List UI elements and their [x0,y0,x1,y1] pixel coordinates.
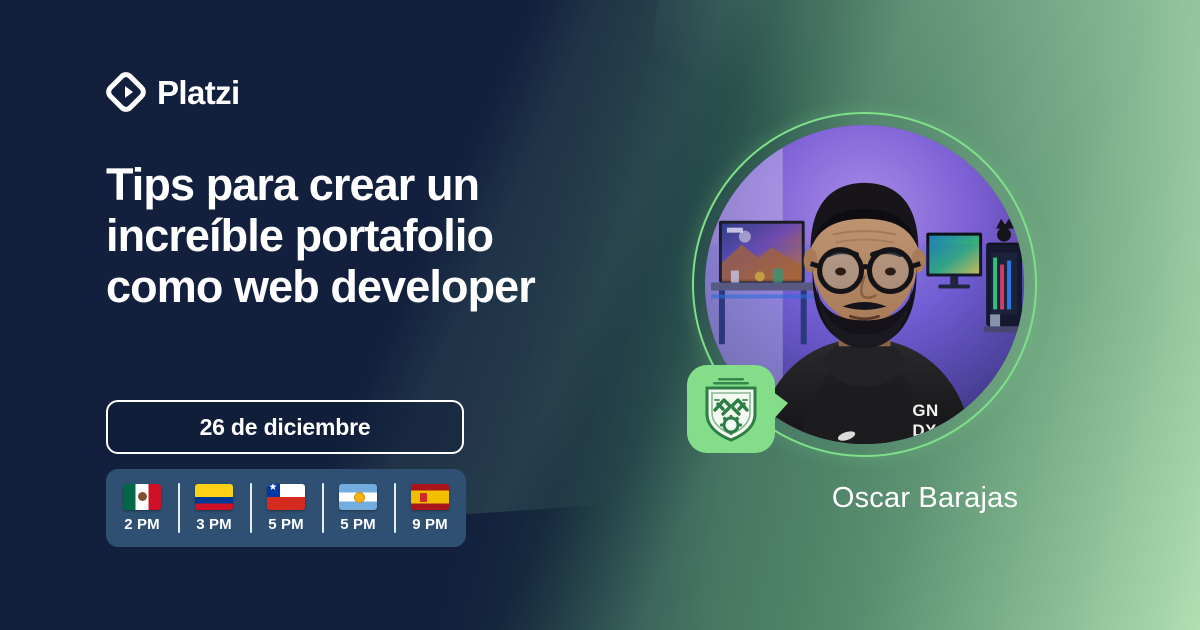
timezone-time: 3 PM [196,516,231,533]
speaker-name: Oscar Barajas [680,482,1200,515]
timezone-item-colombia: 3 PM [178,469,250,547]
event-date-label: 26 de diciembre [200,414,371,441]
headline-line-3: como web developer [106,261,535,312]
platzi-diamond-logo-icon [106,72,146,112]
left-content-column: Platzi Tips para crear un increíble port… [106,0,626,630]
timezone-item-argentina: 5 PM [322,469,394,547]
timezone-time: 5 PM [340,516,375,533]
event-date-pill[interactable]: 26 de diciembre [106,400,464,454]
timezone-time: 2 PM [124,516,159,533]
flag-colombia-icon [195,484,233,510]
timezone-item-mexico: 2 PM [106,469,178,547]
timezone-bar: 2 PM 3 PM 5 PM 5 PM 9 PM [106,469,466,547]
platzi-logo[interactable]: Platzi [106,72,240,112]
timezone-time: 9 PM [412,516,447,533]
timezone-time: 5 PM [268,516,303,533]
flag-argentina-icon [339,484,377,510]
shield-crest-handshake-gear-icon [701,376,761,442]
flag-mexico-icon [123,484,161,510]
event-banner: Platzi Tips para crear un increíble port… [0,0,1200,630]
platzi-wordmark: Platzi [157,76,240,109]
timezone-item-chile: 5 PM [250,469,322,547]
timezone-item-spain: 9 PM [394,469,466,547]
headline-line-1: Tips para crear un [106,159,479,210]
headline-line-2: increíble portafolio [106,210,493,261]
community-badge [687,365,775,453]
flag-chile-icon [267,484,305,510]
flag-spain-icon [411,484,449,510]
right-content-column: GN DX [680,0,1200,630]
hoodie-text-line-1: GN [912,401,938,420]
page-title: Tips para crear un increíble portafolio … [106,160,606,313]
speaker-avatar: GN DX [692,112,1037,457]
